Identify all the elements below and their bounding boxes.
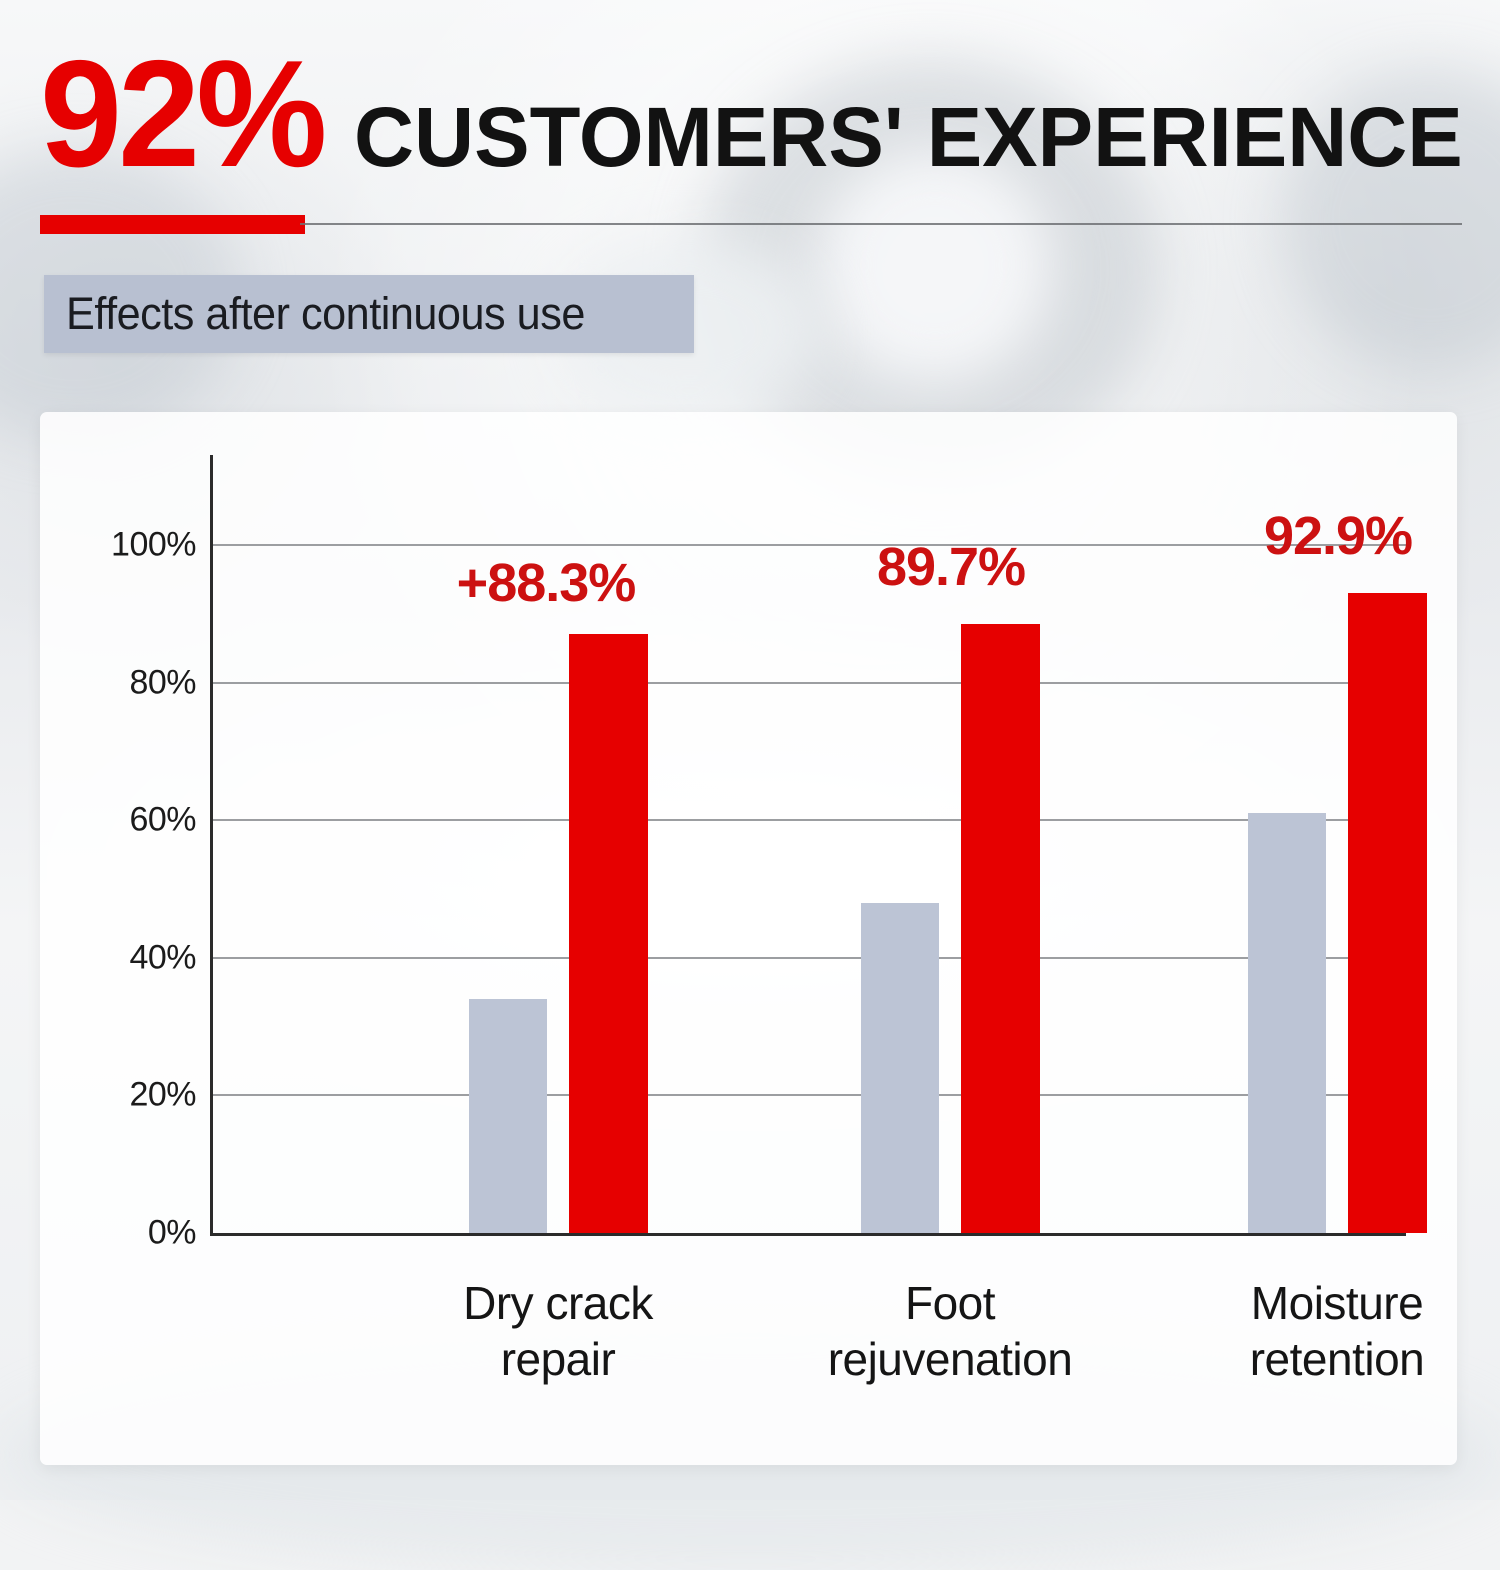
gridline [213, 957, 1406, 959]
y-axis-tick-label: 100% [111, 526, 196, 565]
y-axis-tick-label: 40% [129, 938, 196, 977]
gridline [213, 544, 1406, 546]
bar-before [469, 999, 547, 1233]
headline-percent: 92% [40, 38, 323, 190]
category-label: Dry crack repair [463, 1275, 653, 1387]
bar-value-label: 89.7% [877, 536, 1025, 598]
divider-line [300, 223, 1462, 225]
infographic-canvas: 92% CUSTOMERS' EXPERIENCE Effects after … [0, 0, 1500, 1500]
y-axis-tick-label: 80% [129, 663, 196, 702]
bar-after [961, 624, 1040, 1233]
subtitle-banner: Effects after continuous use [44, 275, 694, 353]
bar-after [1348, 593, 1427, 1233]
bar-value-label: 92.9% [1264, 505, 1412, 567]
y-axis-tick-label: 60% [129, 801, 196, 840]
y-axis-tick-label: 0% [148, 1214, 196, 1253]
bar-after [569, 634, 648, 1233]
gridline [213, 682, 1406, 684]
headline-text: CUSTOMERS' EXPERIENCE [354, 95, 1463, 179]
bar-before [1248, 813, 1326, 1233]
gridline [213, 819, 1406, 821]
subtitle-label: Effects after continuous use [66, 288, 585, 340]
bar-chart: 0%20%40%60%80%100% +88.3%89.7%92.9% Dry … [210, 455, 1457, 1465]
category-label: Foot rejuvenation [828, 1275, 1073, 1387]
category-label: Moisture retention [1250, 1275, 1425, 1387]
chart-panel: 0%20%40%60%80%100% +88.3%89.7%92.9% Dry … [40, 412, 1457, 1465]
y-axis-line [210, 455, 213, 1233]
bar-value-label: +88.3% [457, 552, 636, 614]
accent-underline [40, 215, 305, 234]
bar-before [861, 903, 939, 1233]
header: 92% CUSTOMERS' EXPERIENCE Effects after … [0, 0, 1500, 400]
y-axis-tick-label: 20% [129, 1076, 196, 1115]
gridline [213, 1094, 1406, 1096]
gridline [213, 1232, 1406, 1234]
page-title: 92% CUSTOMERS' EXPERIENCE [40, 38, 1470, 188]
